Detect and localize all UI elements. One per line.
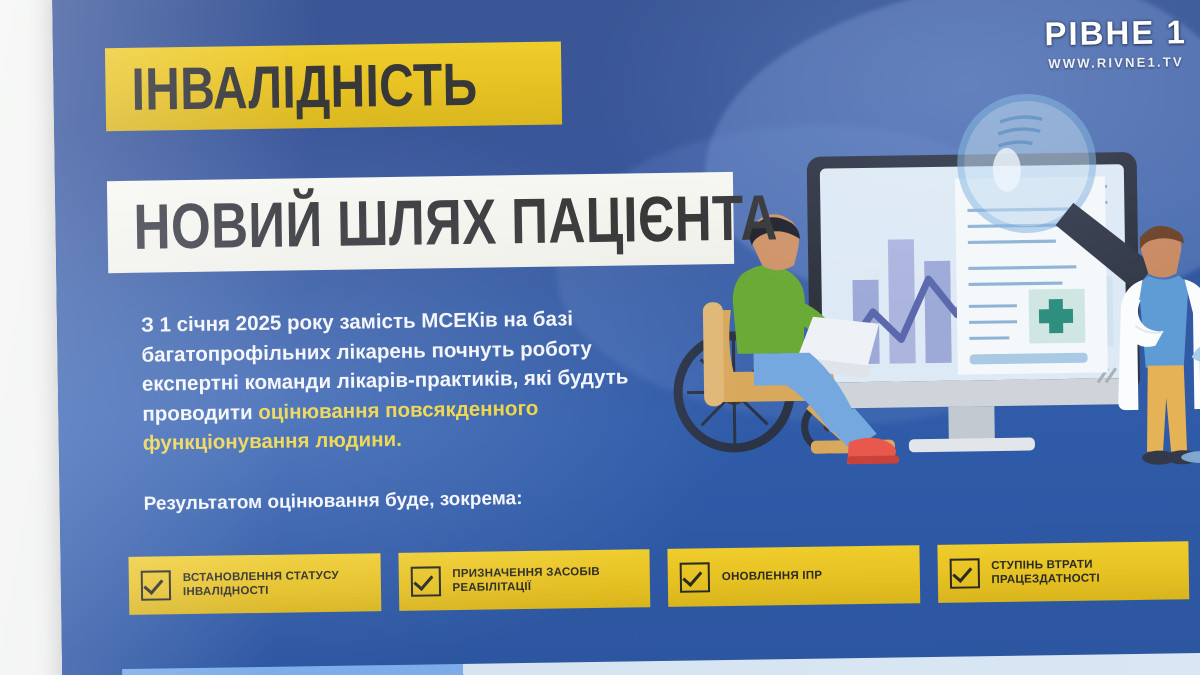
checklist-item-label: СТУПІНЬ ВТРАТИ ПРАЦЕЗДАТНОСТІ (991, 556, 1179, 587)
headline-banner-secondary: НОВИЙ ШЛЯХ ПАЦІЄНТА (107, 172, 734, 273)
screenshot-root: ІНВАЛІДНІСТЬ НОВИЙ ШЛЯХ ПАЦІЄНТА З 1 січ… (0, 0, 1200, 675)
checklist-item-label: ПРИЗНАЧЕННЯ ЗАСОБІВ РЕАБІЛІТАЦІЇ (452, 564, 640, 595)
channel-website: WWW.RIVNE1.TV (1045, 54, 1188, 71)
channel-logo: РІВНЕ 1 WWW.RIVNE1.TV (1044, 13, 1187, 71)
channel-name: РІВНЕ 1 (1044, 13, 1187, 53)
headline-banner-primary: ІНВАЛІДНІСТЬ (105, 41, 562, 131)
checklist-item: СТУПІНЬ ВТРАТИ ПРАЦЕЗДАТНОСТІ (937, 541, 1189, 603)
poster-paragraph: З 1 січня 2025 року замість МСЕКів на ба… (141, 303, 663, 458)
checkmark-icon (141, 570, 171, 600)
checkmark-icon (680, 562, 710, 592)
checklist-item: ВСТАНОВЛЕННЯ СТАТУСУ ІНВАЛІДНОСТІ (128, 553, 380, 615)
headline-primary-text: ІНВАЛІДНІСТЬ (131, 50, 478, 124)
checklist-item: ПРИЗНАЧЕННЯ ЗАСОБІВ РЕАБІЛІТАЦІЇ (398, 549, 650, 611)
checklist-item-label: ВСТАНОВЛЕННЯ СТАТУСУ ІНВАЛІДНОСТІ (183, 568, 371, 599)
checklist-item: ОНОВЛЕННЯ ІПР (667, 545, 919, 607)
checkmark-icon (410, 566, 440, 596)
illustration (654, 89, 1200, 517)
headline-secondary-text: НОВИЙ ШЛЯХ ПАЦІЄНТА (133, 180, 778, 264)
checkmark-icon (949, 558, 979, 588)
information-poster: ІНВАЛІДНІСТЬ НОВИЙ ШЛЯХ ПАЦІЄНТА З 1 січ… (52, 0, 1200, 675)
checklist-item-label: ОНОВЛЕННЯ ІПР (722, 569, 823, 584)
